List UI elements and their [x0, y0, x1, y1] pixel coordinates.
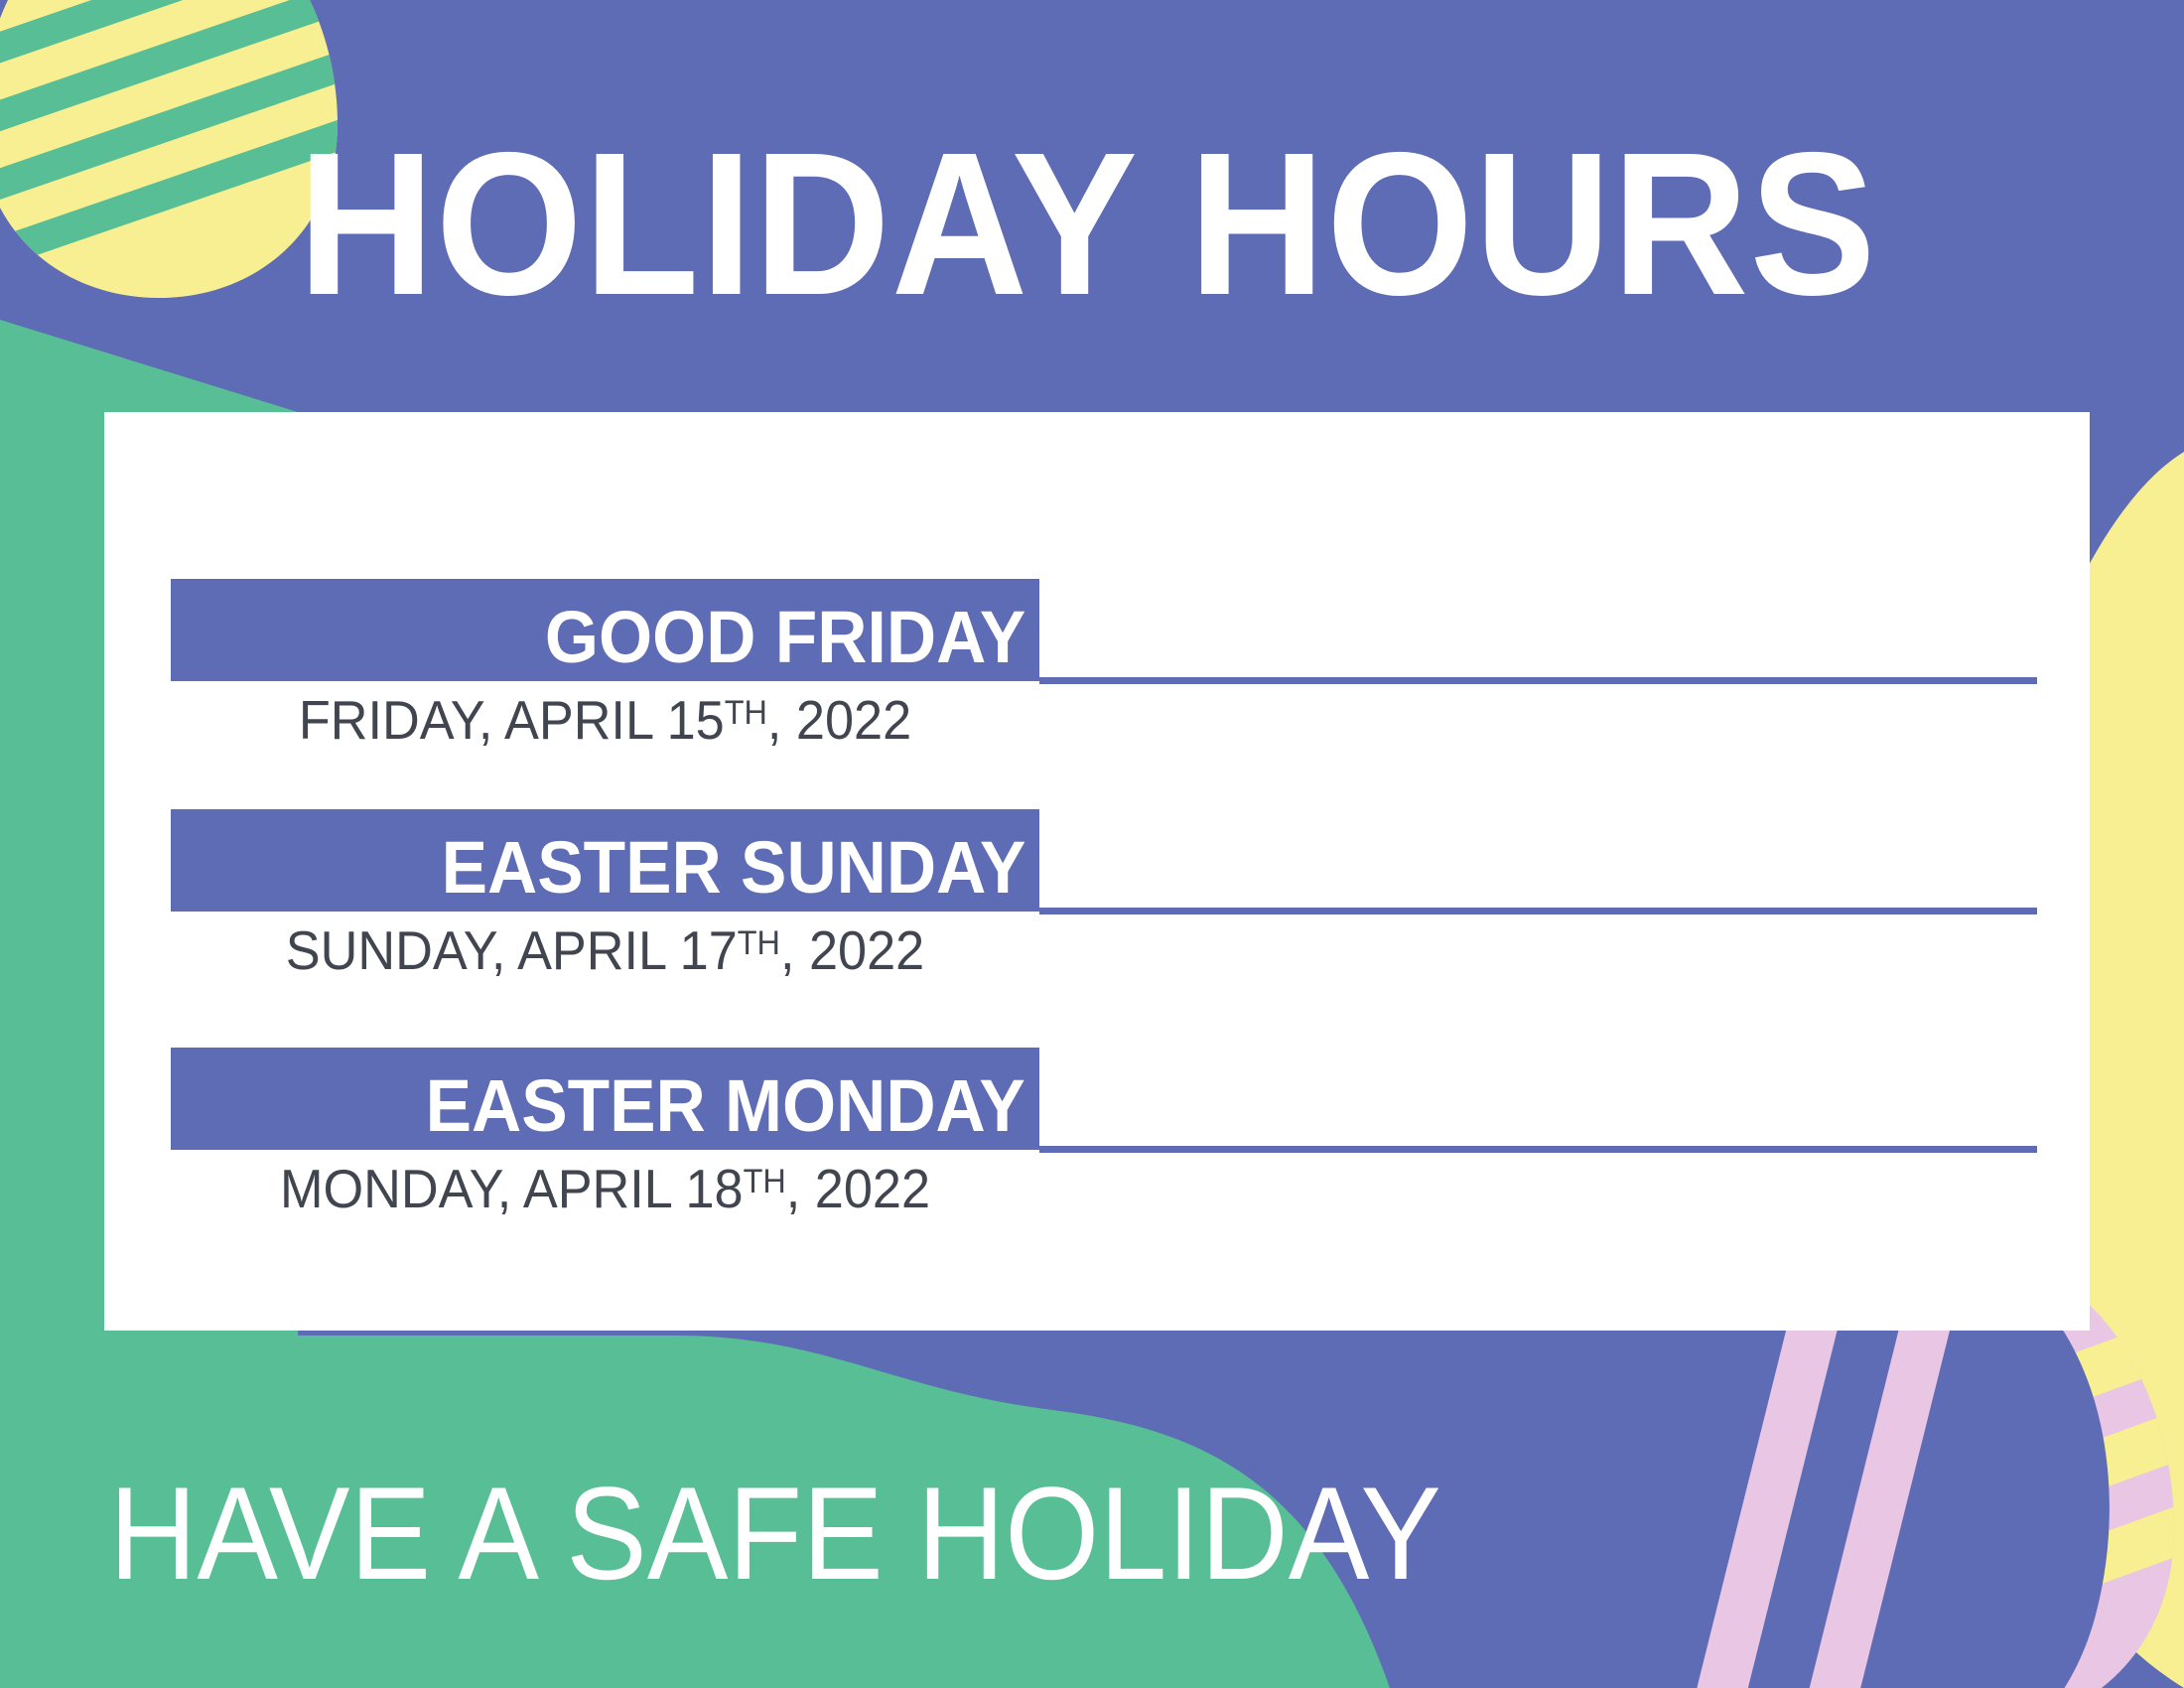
hours-write-in-line[interactable] — [1039, 677, 2037, 684]
holiday-date-suffix: , 2022 — [780, 919, 924, 981]
footer-message: HAVE A SAFE HOLIDAY — [109, 1460, 1441, 1609]
hours-card: GOOD FRIDAY FRIDAY, APRIL 15TH, 2022 EAS… — [104, 412, 2090, 1331]
holiday-name: EASTER SUNDAY — [441, 828, 1025, 908]
holiday-date-prefix: FRIDAY, APRIL 15 — [299, 689, 725, 751]
holiday-label-bar: EASTER MONDAY — [171, 1048, 1039, 1150]
holiday-date-ordinal: TH — [744, 1163, 786, 1200]
holiday-date-ordinal: TH — [725, 694, 767, 732]
holiday-date-ordinal: TH — [738, 924, 780, 962]
holiday-date: SUNDAY, APRIL 17TH, 2022 — [193, 916, 1018, 984]
holiday-date-prefix: SUNDAY, APRIL 17 — [286, 919, 738, 981]
hours-write-in-line[interactable] — [1039, 908, 2037, 914]
holiday-name: GOOD FRIDAY — [545, 598, 1025, 677]
holiday-name: EASTER MONDAY — [426, 1066, 1025, 1146]
hours-write-in-line[interactable] — [1039, 1146, 2037, 1153]
holiday-date-prefix: MONDAY, APRIL 18 — [280, 1158, 744, 1219]
holiday-date: FRIDAY, APRIL 15TH, 2022 — [193, 686, 1018, 754]
holiday-hours-poster: HOLIDAY HOURS GOOD FRIDAY FRIDAY, APRIL … — [0, 0, 2184, 1688]
holiday-date-suffix: , 2022 — [767, 689, 911, 751]
holiday-label-bar: EASTER SUNDAY — [171, 809, 1039, 912]
holiday-date-suffix: , 2022 — [786, 1158, 930, 1219]
holiday-date: MONDAY, APRIL 18TH, 2022 — [193, 1155, 1018, 1222]
page-title: HOLIDAY HOURS — [298, 117, 1877, 331]
holiday-label-bar: GOOD FRIDAY — [171, 579, 1039, 681]
